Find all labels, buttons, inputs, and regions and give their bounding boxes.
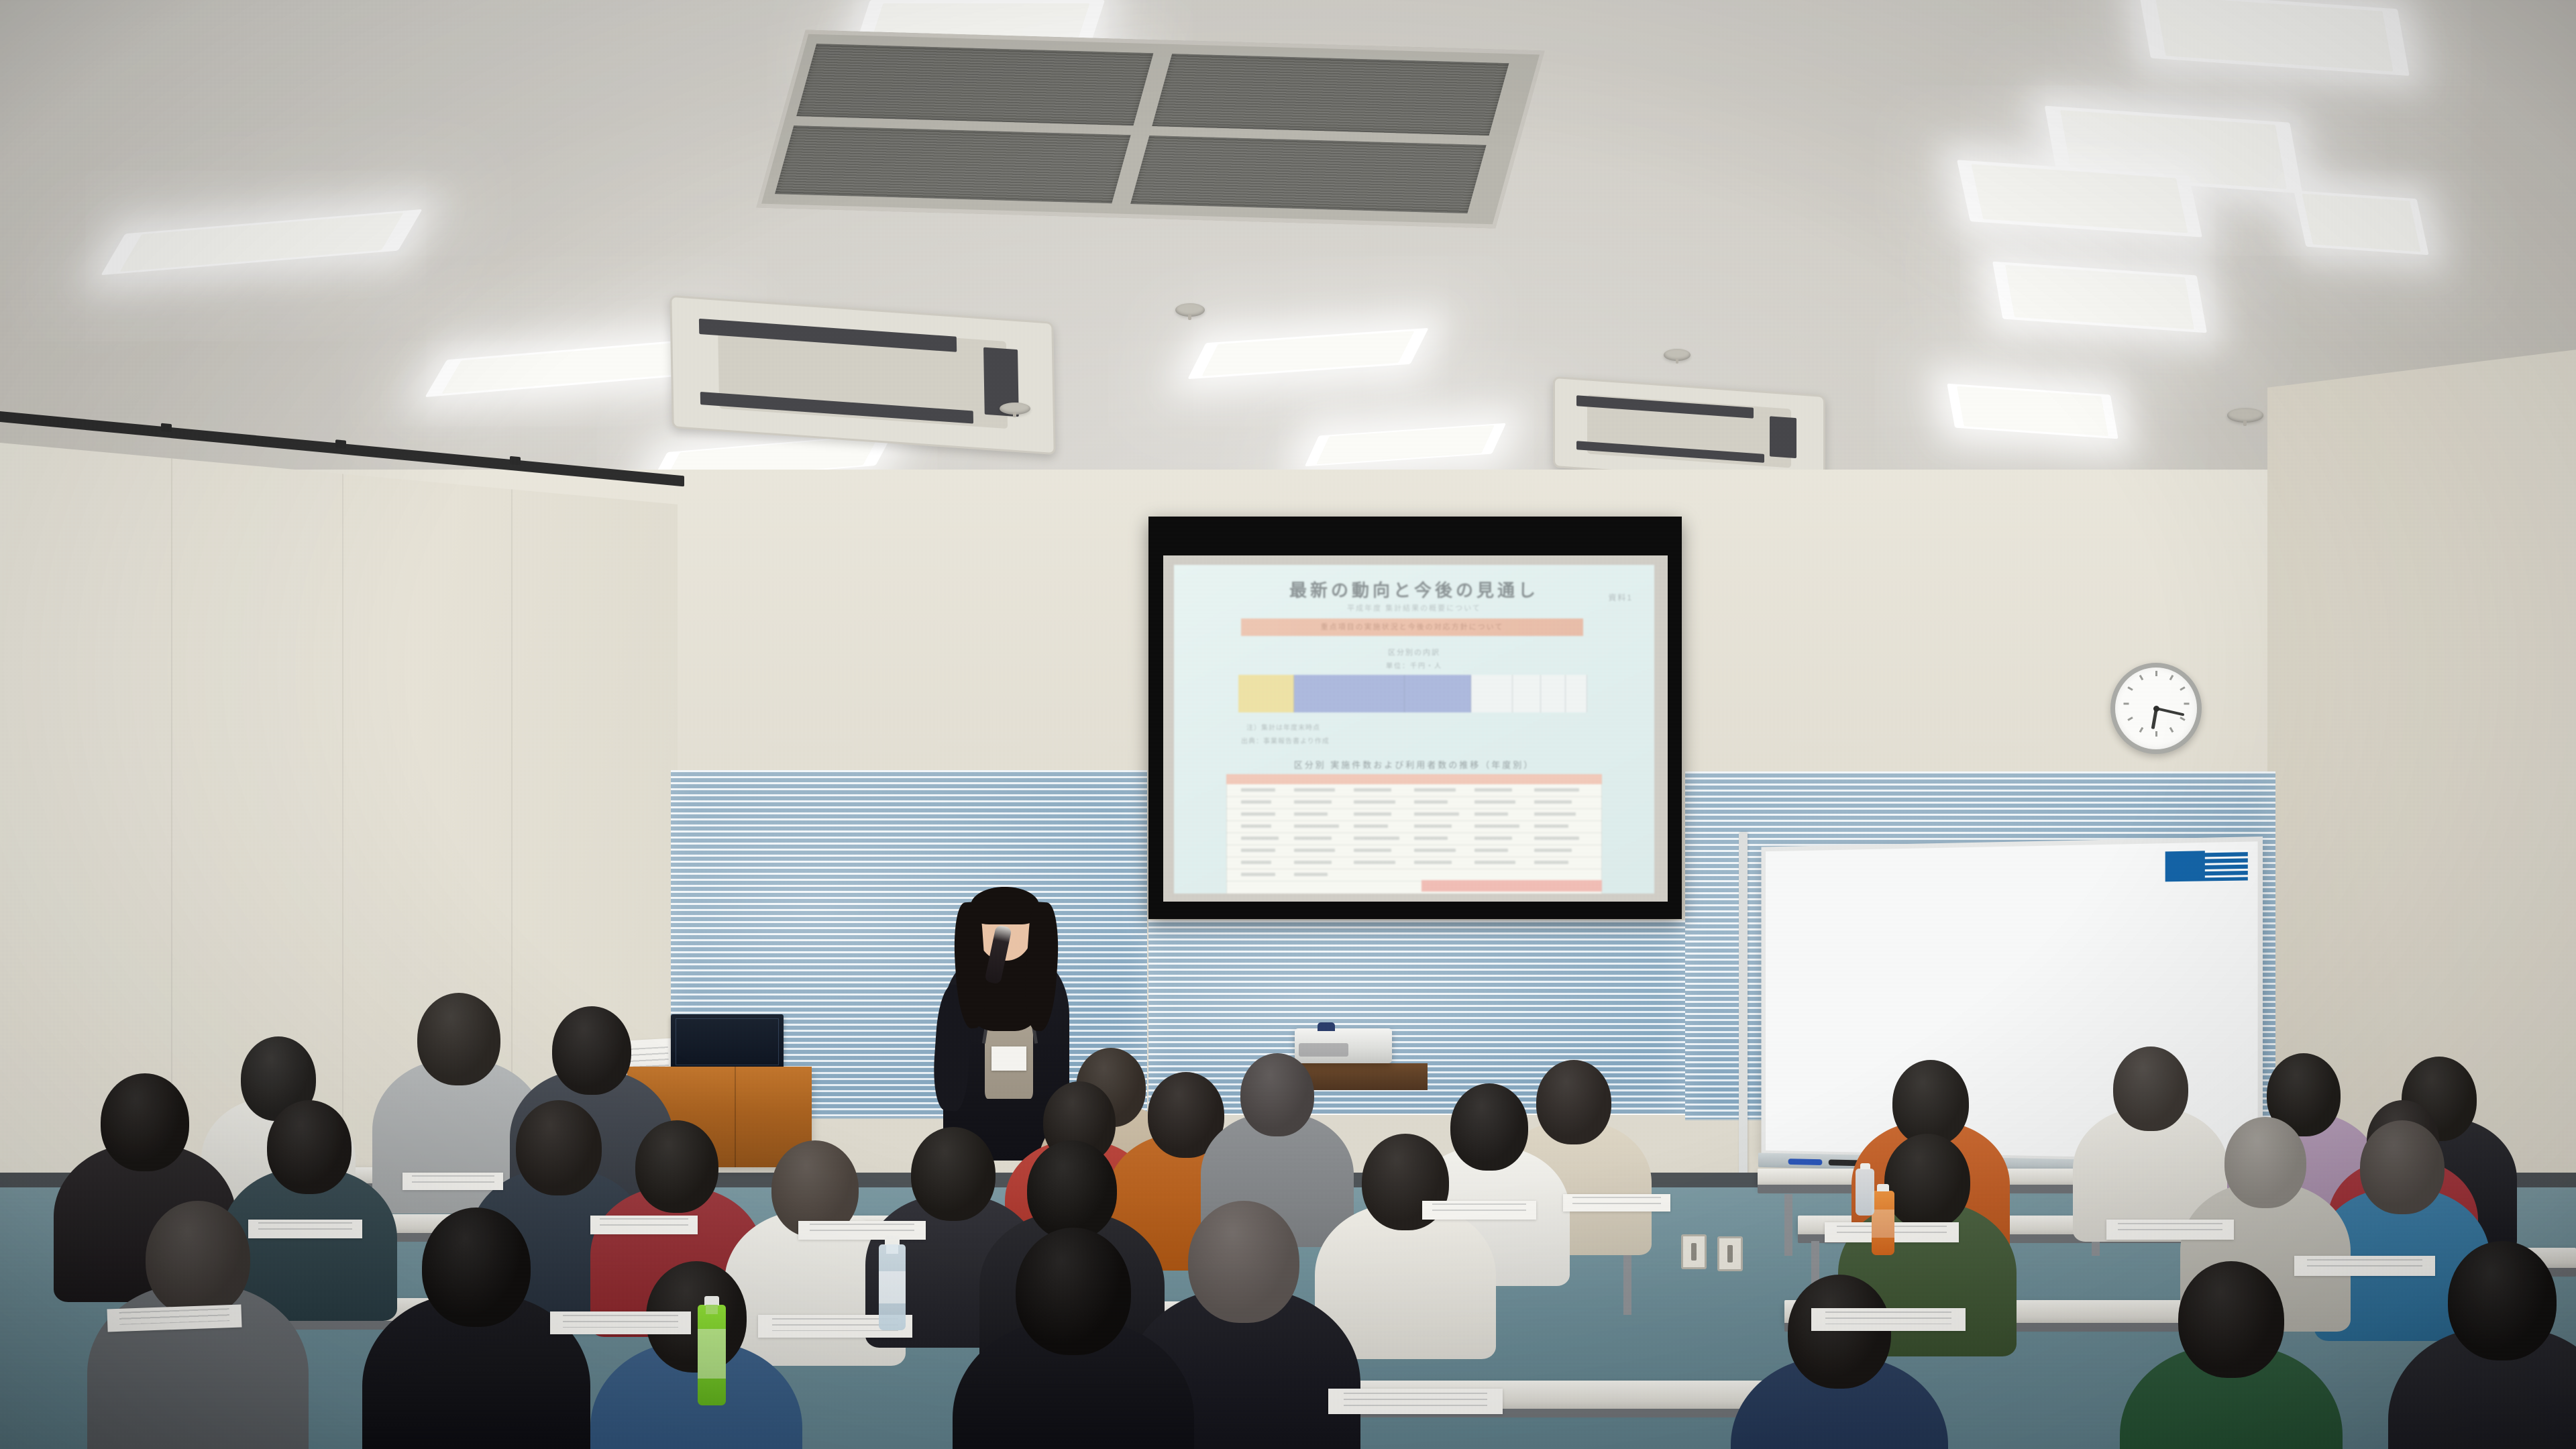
- handout-paper[interactable]: [402, 1173, 503, 1190]
- attendee-longhair-fg: [953, 1228, 1194, 1449]
- attendee-green-coat-fg: [2120, 1261, 2343, 1449]
- attendee-head: [635, 1120, 718, 1213]
- water-bottle-right[interactable]: [1856, 1169, 1874, 1216]
- attendee-head: [1892, 1060, 1969, 1146]
- attendee-head: [2448, 1241, 2557, 1360]
- handout-paper[interactable]: [550, 1311, 691, 1334]
- orange-drink-bottle[interactable]: [1872, 1191, 1894, 1255]
- attendee-head: [1788, 1275, 1891, 1389]
- attendee-blue-knit-fg: [590, 1261, 802, 1449]
- attendee-head: [1240, 1053, 1314, 1136]
- attendee-head: [146, 1201, 250, 1316]
- handout-paper[interactable]: [107, 1305, 241, 1332]
- attendee-head: [516, 1100, 602, 1195]
- attendee-head: [422, 1207, 531, 1327]
- attendee-navy-fg: [1731, 1275, 1948, 1449]
- attendee-head: [1016, 1228, 1131, 1355]
- water-bottle[interactable]: [879, 1244, 906, 1330]
- handout-paper[interactable]: [1563, 1194, 1670, 1212]
- attendee-head: [2224, 1117, 2306, 1208]
- attendee-head: [552, 1006, 631, 1095]
- handout-paper[interactable]: [248, 1220, 362, 1238]
- attendee-head: [1027, 1140, 1117, 1240]
- attendee-head: [101, 1073, 189, 1171]
- attendee-head: [417, 993, 500, 1085]
- green-tea-bottle[interactable]: [698, 1305, 726, 1405]
- attendee-head: [1884, 1134, 1970, 1229]
- attendee-head: [2178, 1261, 2284, 1378]
- handout-paper[interactable]: [2294, 1256, 2435, 1276]
- handout-paper[interactable]: [798, 1221, 926, 1240]
- lecture-room-photo: 最新の動向と今後の見通し 資料1 平成年度 集計結果の概要について 重点項目の実…: [0, 0, 2576, 1449]
- handout-paper[interactable]: [1328, 1389, 1503, 1414]
- handout-paper[interactable]: [2106, 1220, 2234, 1240]
- handout-paper[interactable]: [1422, 1201, 1536, 1220]
- handout-paper[interactable]: [590, 1216, 698, 1234]
- attendee-head: [267, 1100, 352, 1194]
- attendee-head: [1188, 1201, 1299, 1323]
- handout-paper[interactable]: [1811, 1308, 1966, 1331]
- attendee-head: [2113, 1046, 2188, 1131]
- attendee-head: [2360, 1120, 2445, 1214]
